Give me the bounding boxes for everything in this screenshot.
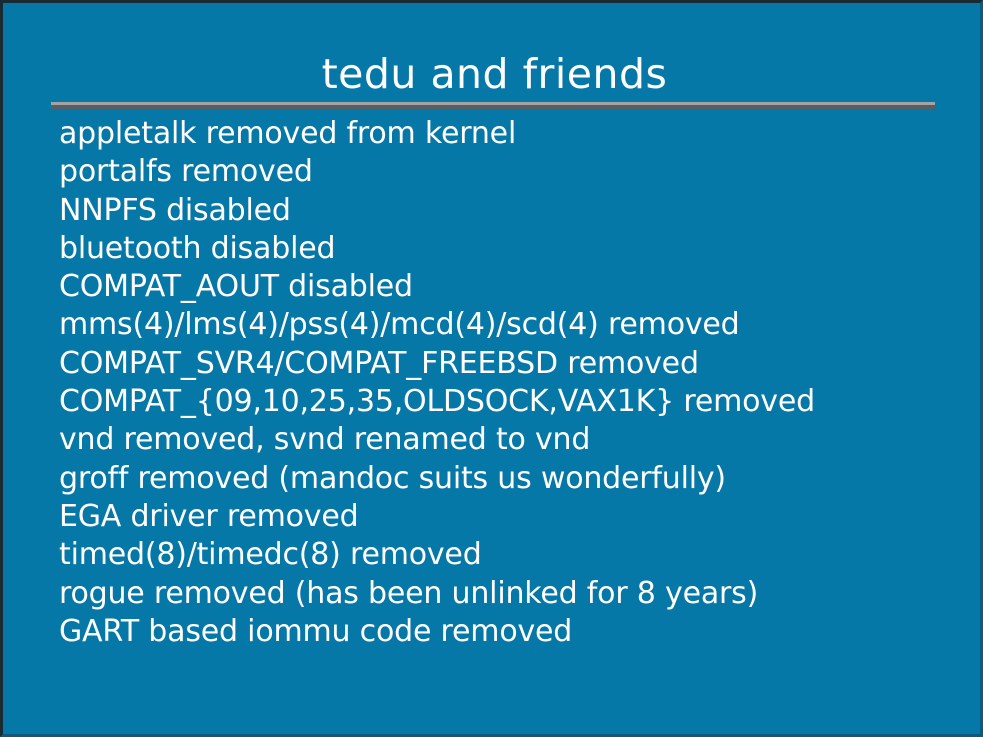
list-item: GART based iommu code removed xyxy=(59,613,959,651)
slide-title: tedu and friends xyxy=(3,51,983,97)
list-item: portalfs removed xyxy=(59,153,959,191)
list-item: NNPFS disabled xyxy=(59,192,959,230)
presentation-slide: tedu and friends appletalk removed from … xyxy=(0,0,983,737)
divider-shadow xyxy=(51,105,935,109)
list-item: appletalk removed from kernel xyxy=(59,115,959,153)
list-item: COMPAT_AOUT disabled xyxy=(59,268,959,306)
list-item: COMPAT_{09,10,25,35,OLDSOCK,VAX1K} remov… xyxy=(59,383,959,421)
title-divider-rule xyxy=(51,102,935,109)
slide-bullet-list: appletalk removed from kernelportalfs re… xyxy=(59,115,959,651)
list-item: COMPAT_SVR4/COMPAT_FREEBSD removed xyxy=(59,345,959,383)
list-item: EGA driver removed xyxy=(59,498,959,536)
list-item: vnd removed, svnd renamed to vnd xyxy=(59,421,959,459)
list-item: timed(8)/timedc(8) removed xyxy=(59,536,959,574)
list-item: rogue removed (has been unlinked for 8 y… xyxy=(59,575,959,613)
list-item: mms(4)/lms(4)/pss(4)/mcd(4)/scd(4) remov… xyxy=(59,306,959,344)
list-item: groff removed (mandoc suits us wonderful… xyxy=(59,460,959,498)
list-item: bluetooth disabled xyxy=(59,230,959,268)
